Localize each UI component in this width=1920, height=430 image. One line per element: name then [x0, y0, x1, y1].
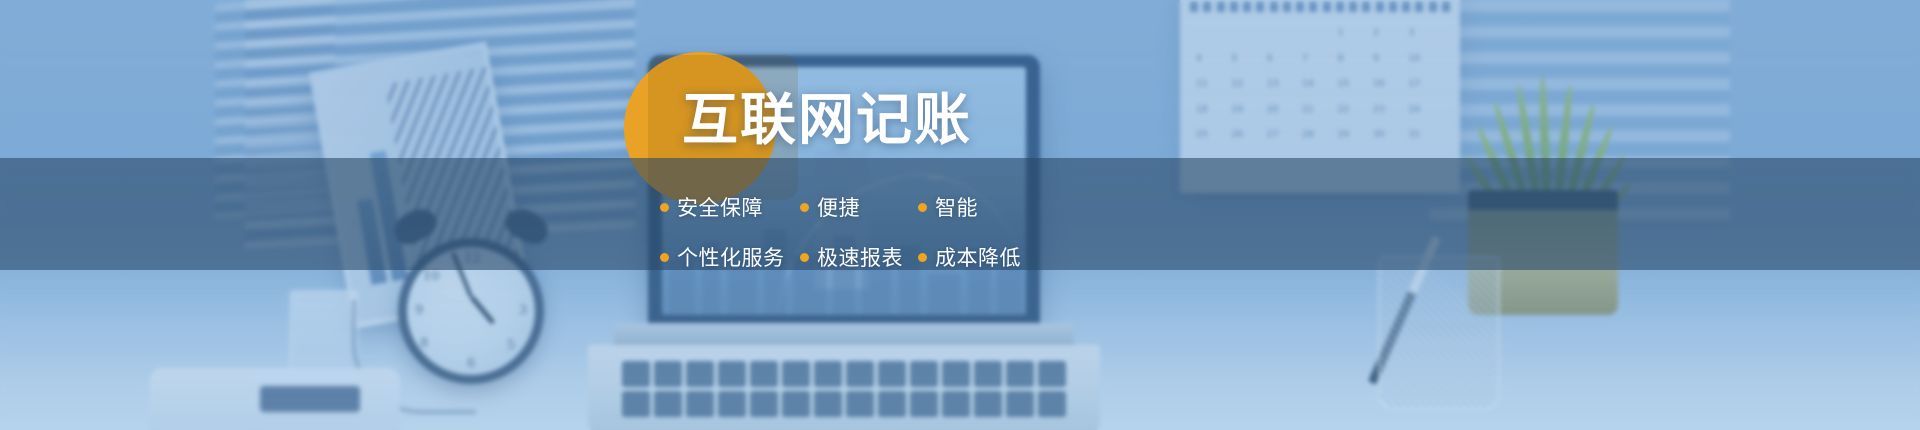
feature-label: 智能: [935, 192, 978, 222]
feature-list: 安全保障 便捷 智能 个性化服务 极速报表 成本降低: [660, 182, 1050, 282]
feature-item-personalized-service: 个性化服务: [660, 242, 800, 272]
page-title: 互联网记账: [682, 92, 972, 151]
feature-label: 极速报表: [817, 242, 903, 272]
bullet-dot-icon: [800, 203, 809, 212]
feature-item-smart: 智能: [918, 192, 1050, 222]
banner-content: 互联网记账 安全保障 便捷 智能 个性化服务 极速报表: [0, 0, 1920, 430]
feature-label: 便捷: [817, 192, 860, 222]
bullet-dot-icon: [800, 253, 809, 262]
bullet-dot-icon: [918, 253, 927, 262]
bullet-dot-icon: [660, 203, 669, 212]
bullet-dot-icon: [660, 253, 669, 262]
feature-item-fast-reports: 极速报表: [800, 242, 918, 272]
feature-label: 成本降低: [935, 242, 1021, 272]
bullet-dot-icon: [918, 203, 927, 212]
feature-item-convenient: 便捷: [800, 192, 918, 222]
feature-item-security: 安全保障: [660, 192, 800, 222]
feature-label: 安全保障: [677, 192, 763, 222]
hero-banner: 12 9 3 6 10 8 5: [0, 0, 1920, 430]
feature-label: 个性化服务: [677, 242, 785, 272]
feature-item-cost-reduction: 成本降低: [918, 242, 1050, 272]
